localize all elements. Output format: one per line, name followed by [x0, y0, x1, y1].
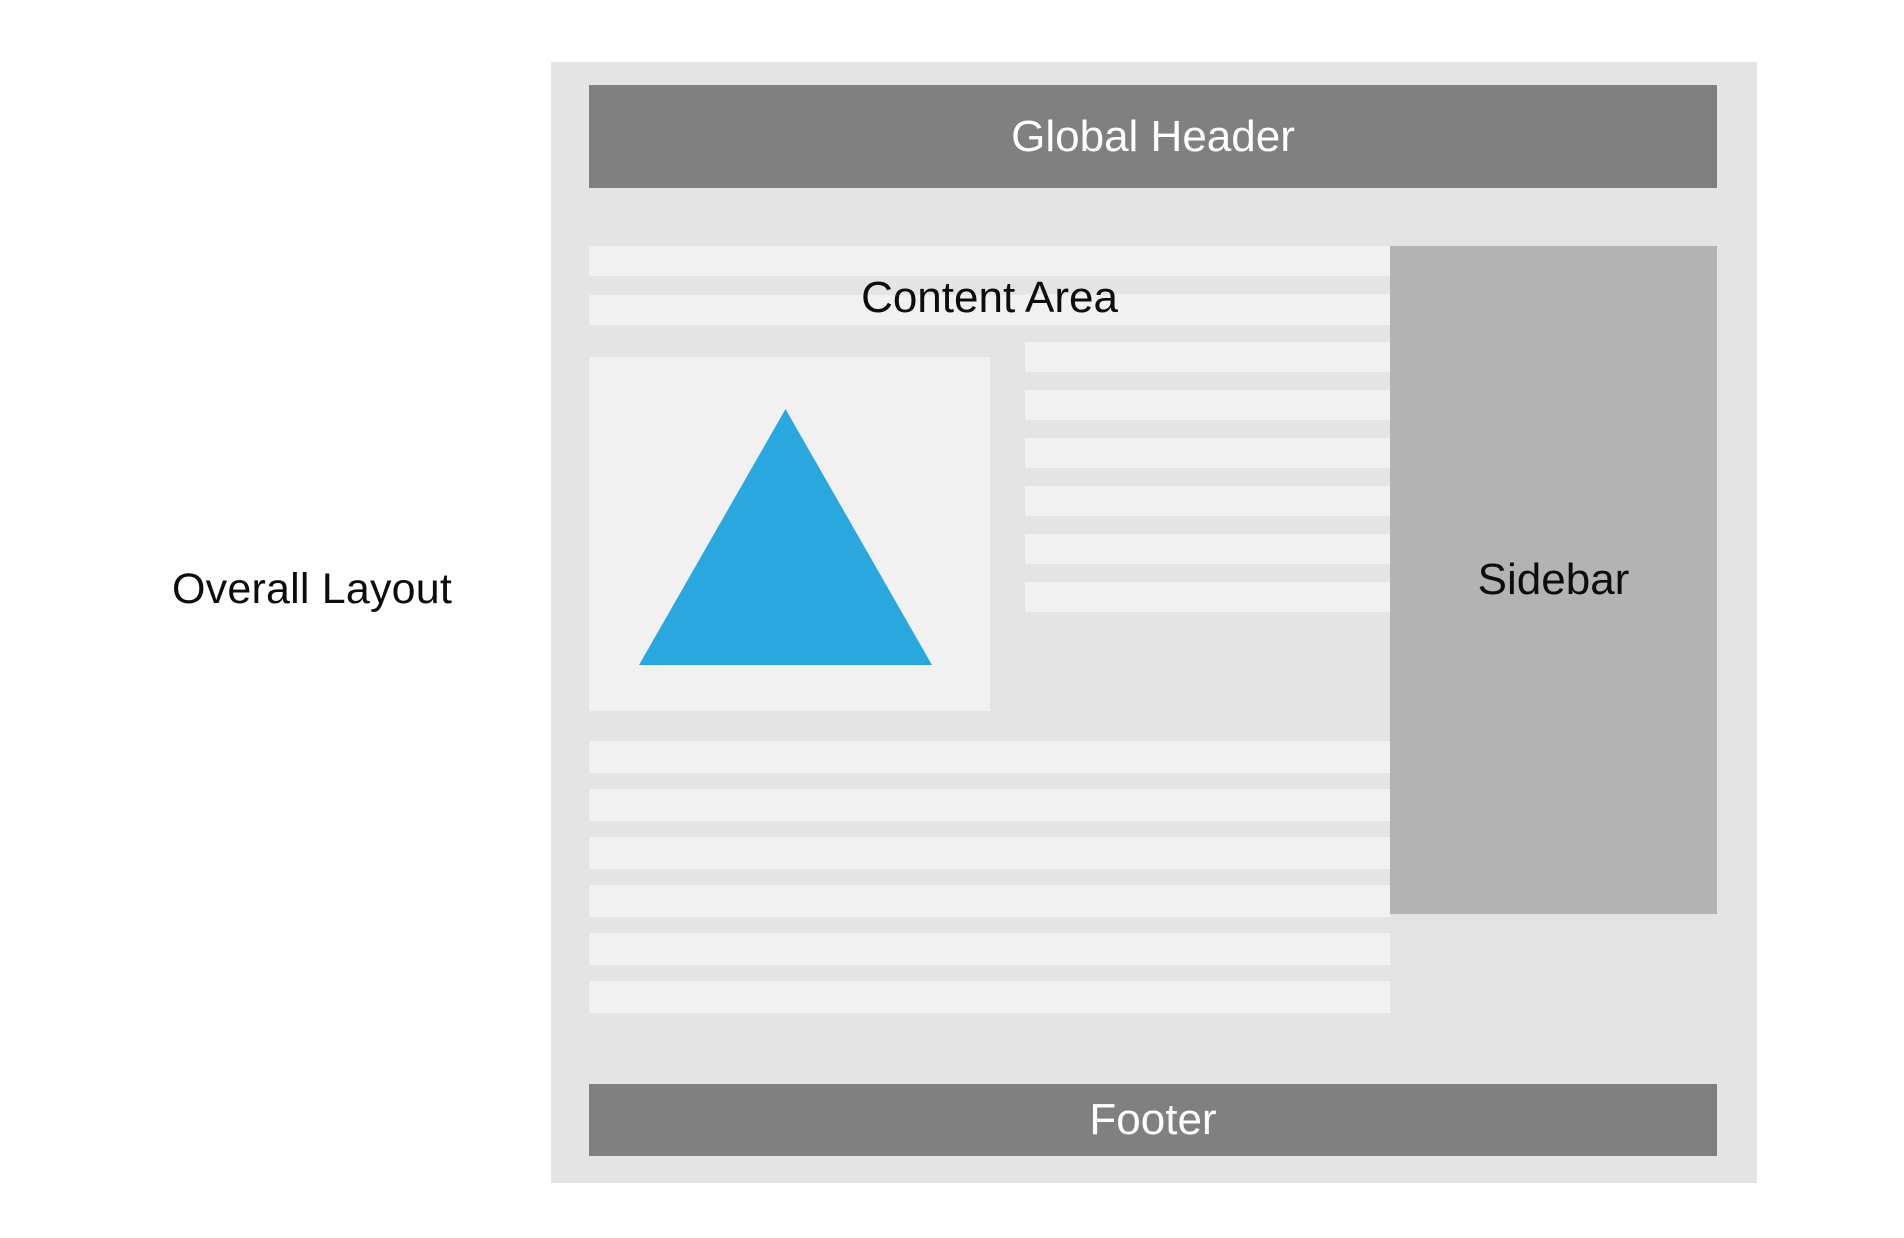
text-line-bar: [1025, 390, 1390, 420]
paragraph-line-bar: [589, 981, 1390, 1013]
triangle-icon: [639, 409, 932, 665]
text-line-bar: [1025, 438, 1390, 468]
footer-bar: Footer: [589, 1084, 1717, 1156]
diagram-canvas: Overall Layout Global Header: [0, 0, 1904, 1238]
text-line-bar: [1025, 486, 1390, 516]
paragraph-line-bar: [589, 837, 1390, 869]
text-line-bar: [1025, 342, 1390, 372]
content-area: Content Area: [589, 246, 1390, 1036]
bottom-paragraph-bars: [589, 741, 1390, 1036]
layout-frame: Global Header Content: [551, 62, 1757, 1183]
text-line-bar: [1025, 294, 1390, 324]
sidebar-label: Sidebar: [1478, 558, 1630, 602]
footer-label: Footer: [1089, 1098, 1216, 1142]
paragraph-line-bar: [589, 933, 1390, 965]
paragraph-line-bar: [589, 885, 1390, 917]
main-region: Content Area Sidebar: [551, 62, 1757, 1183]
overall-layout-caption: Overall Layout: [172, 568, 452, 611]
image-placeholder: [589, 357, 990, 711]
right-column-bars: [1025, 246, 1390, 712]
paragraph-line-bar: [589, 789, 1390, 821]
sidebar-block: Sidebar: [1390, 246, 1717, 914]
paragraph-line-bar: [589, 741, 1390, 773]
text-line-bar: [1025, 582, 1390, 612]
text-line-bar: [1025, 246, 1390, 276]
text-line-bar: [1025, 534, 1390, 564]
